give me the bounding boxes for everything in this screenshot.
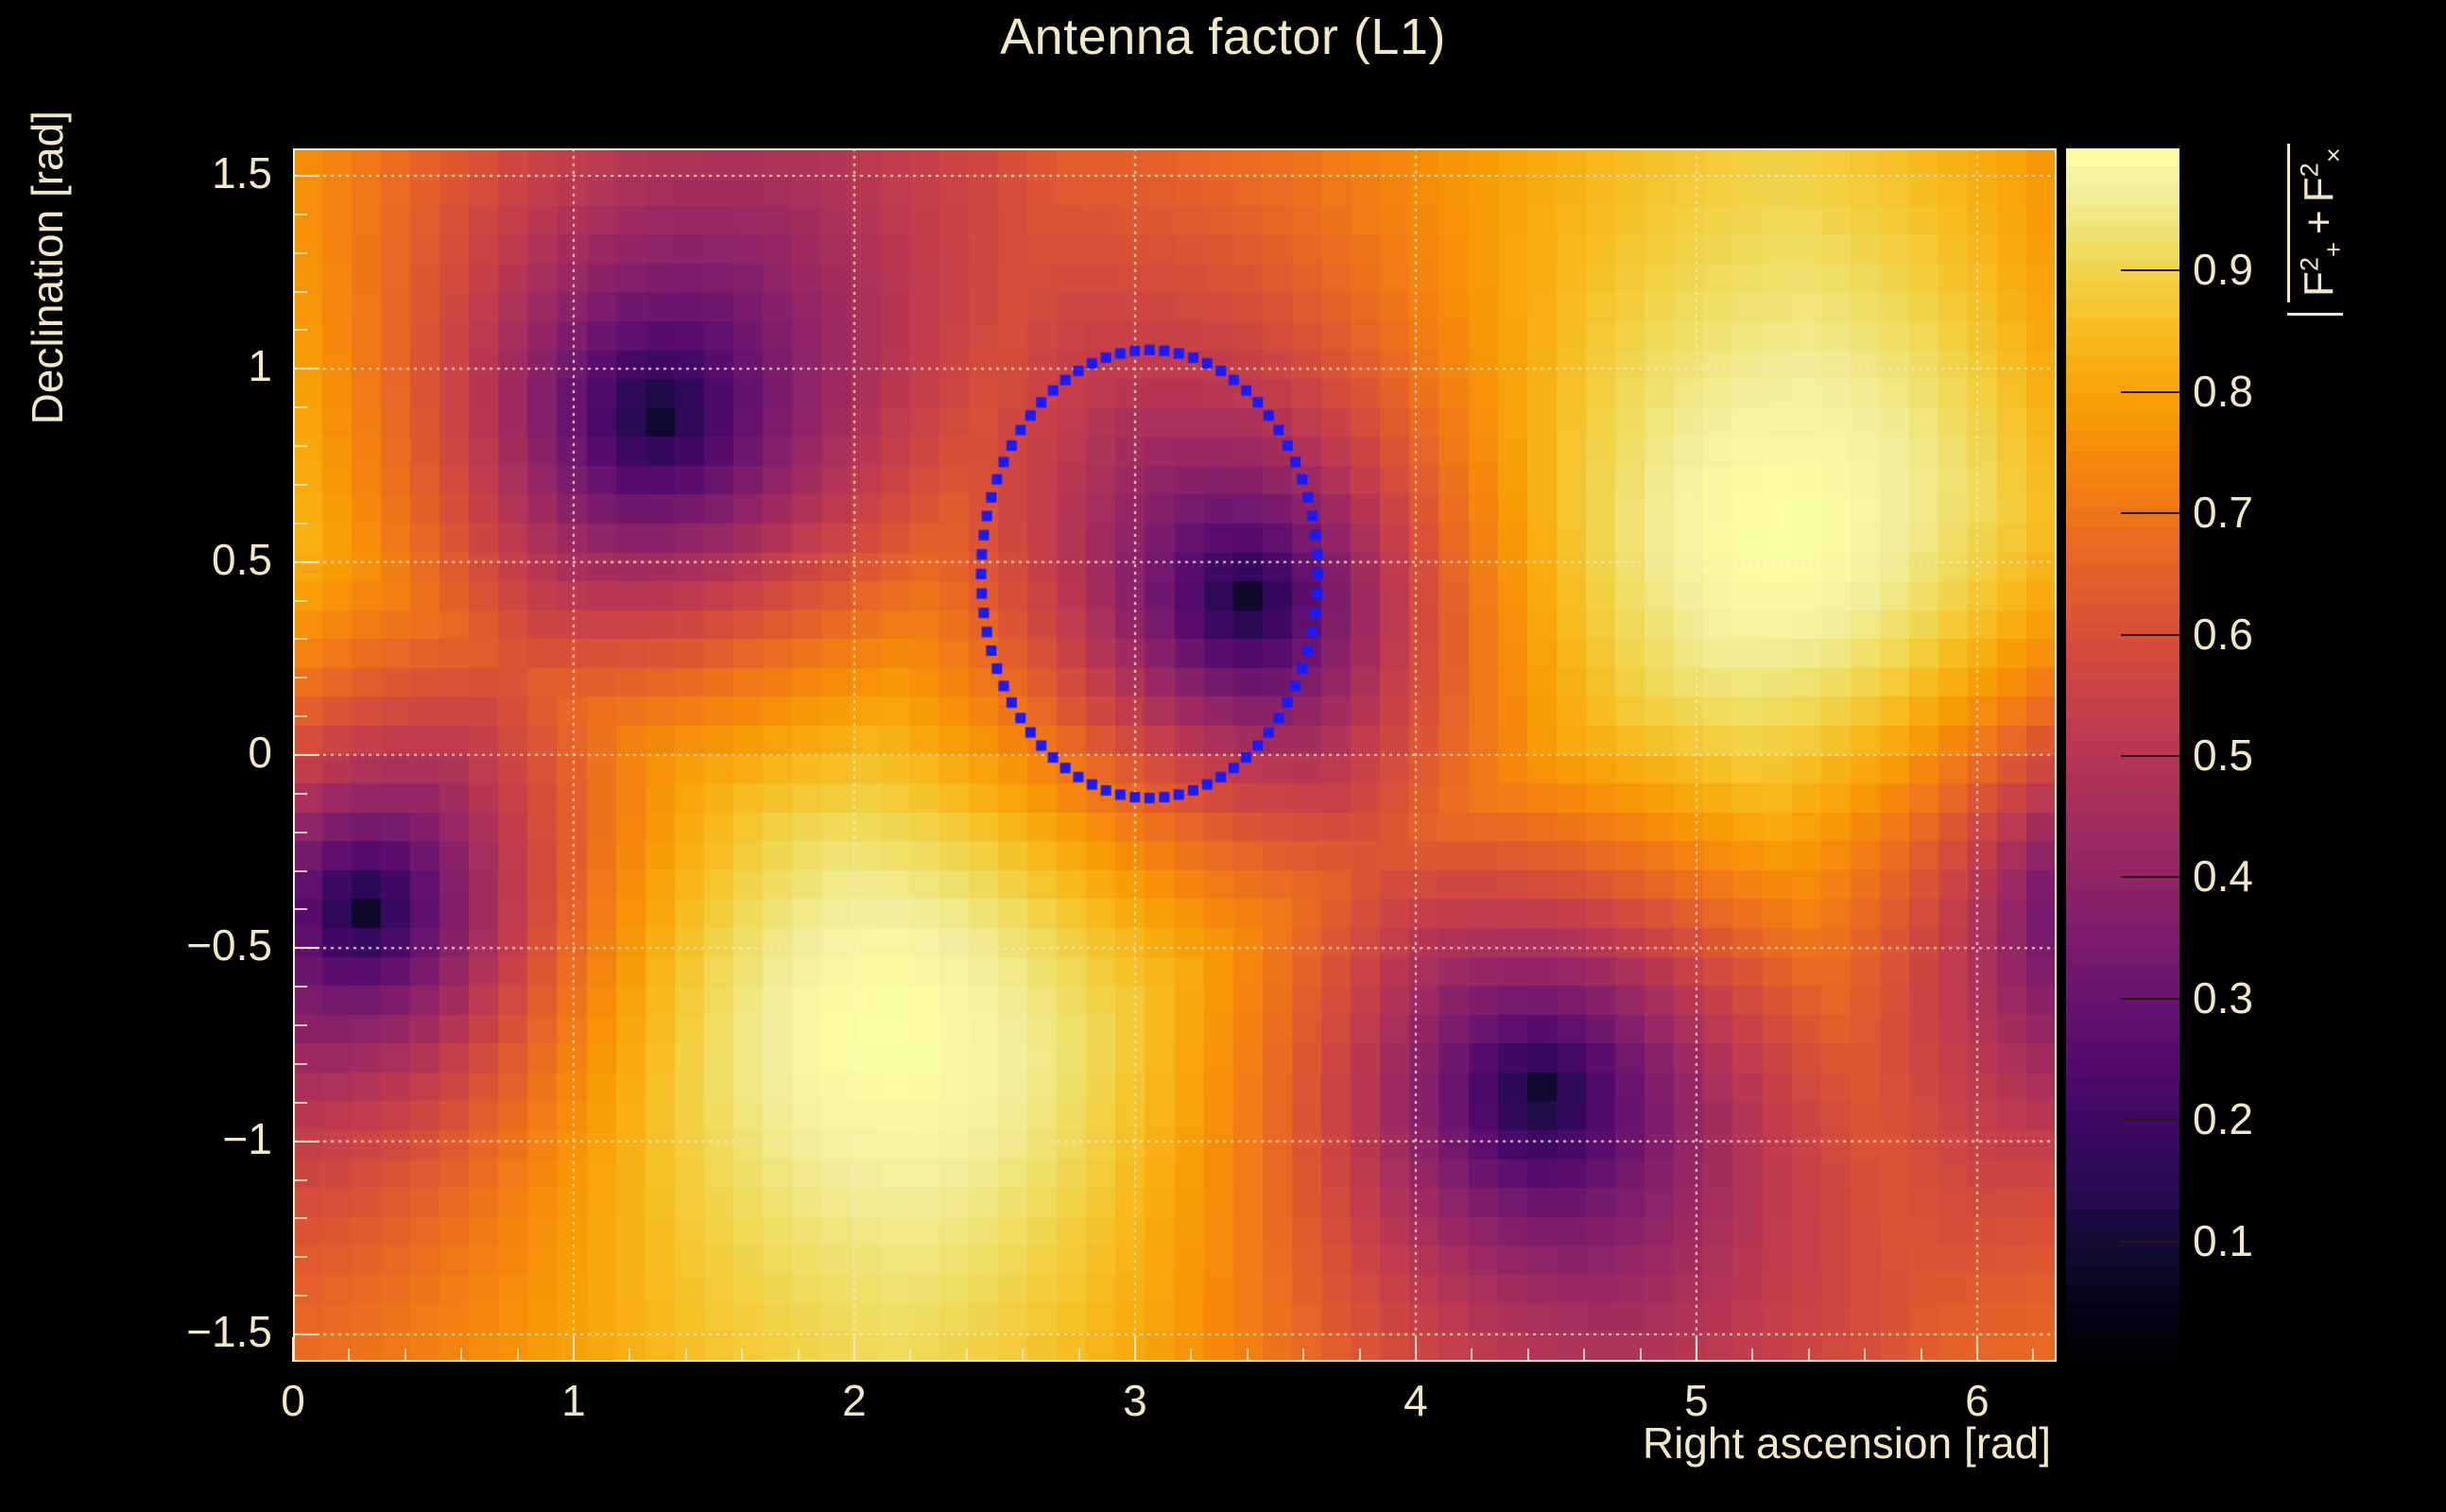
- grid-and-contour-overlay: [293, 148, 2057, 1362]
- y-minor-tickmark: [295, 291, 307, 293]
- colorbar-title: F2++F2×: [2249, 94, 2446, 340]
- y-minor-tickmark: [295, 175, 307, 177]
- page-title: Antenna factor (L1): [0, 8, 2446, 66]
- y-minor-tickmark: [295, 754, 307, 756]
- x-minor-tickmark: [685, 1349, 687, 1362]
- y-minor-tickmark: [295, 523, 307, 524]
- x-minor-tickmark: [2032, 1349, 2034, 1362]
- y-minor-tickmark: [295, 1295, 307, 1297]
- y-tick-label-5: −1: [93, 1113, 272, 1164]
- colorbar-tickmark: [2121, 998, 2179, 1000]
- y-minor-tickmark: [295, 793, 307, 795]
- colorbar-tickmark: [2121, 269, 2179, 271]
- plus-operator: +: [2296, 202, 2342, 242]
- x-minor-tickmark: [1359, 1349, 1361, 1362]
- colorbar-tick-label-2: 0.7: [2193, 487, 2253, 538]
- y-minor-tickmark: [295, 1141, 307, 1143]
- x-minor-tickmark: [798, 1349, 800, 1362]
- colorbar-tickmark: [2121, 1119, 2179, 1121]
- x-minor-tickmark: [1022, 1349, 1024, 1362]
- x-minor-tickmark: [1527, 1349, 1529, 1362]
- colorbar-tick-label-1: 0.8: [2193, 366, 2253, 417]
- f-plus-symbol: F2+: [2296, 242, 2342, 297]
- y-minor-tickmark: [295, 1333, 307, 1335]
- x-minor-tickmark: [1247, 1349, 1249, 1362]
- x-minor-tickmark: [517, 1349, 519, 1362]
- x-minor-tickmark: [1471, 1349, 1473, 1362]
- x-minor-tickmark: [1864, 1349, 1866, 1362]
- y-tick-label-2: 0.5: [93, 534, 272, 585]
- colorbar-tick-label-5: 0.4: [2193, 850, 2253, 902]
- y-minor-tickmark: [295, 947, 307, 949]
- x-minor-tickmark: [1976, 1349, 1978, 1362]
- colorbar-tick-label-6: 0.3: [2193, 972, 2253, 1023]
- x-minor-tickmark: [741, 1349, 743, 1362]
- x-minor-tickmark: [1415, 1349, 1417, 1362]
- x-minor-tickmark: [909, 1349, 911, 1362]
- colorbar-tickmark: [2121, 876, 2179, 878]
- y-minor-tickmark: [295, 870, 307, 872]
- x-minor-tickmark: [1751, 1349, 1753, 1362]
- colorbar-tickmark: [2121, 512, 2179, 514]
- x-minor-tickmark: [1302, 1349, 1304, 1362]
- colorbar-title-expression: F2++F2×: [2287, 144, 2346, 302]
- x-minor-tickmark: [573, 1349, 575, 1362]
- y-minor-tickmark: [295, 561, 307, 563]
- x-minor-tickmark: [966, 1349, 968, 1362]
- colorbar-tick-label-0: 0.9: [2193, 244, 2253, 295]
- y-minor-tickmark: [295, 406, 307, 408]
- x-tickmark: [292, 1337, 294, 1362]
- colorbar-tickmark: [2121, 1241, 2179, 1243]
- y-minor-tickmark: [295, 832, 307, 833]
- y-minor-tickmark: [295, 1179, 307, 1181]
- y-tick-label-1: 1: [93, 340, 272, 391]
- x-minor-tickmark: [853, 1349, 855, 1362]
- colorbar-tickmark: [2121, 755, 2179, 757]
- y-axis-title: Declination [rad]: [22, 111, 73, 507]
- plot-canvas: Antenna factor (L1) 0123456 1.510.50−0.5…: [0, 0, 2446, 1512]
- y-minor-tickmark: [295, 252, 307, 254]
- y-minor-tickmark: [295, 908, 307, 910]
- y-minor-tickmark: [295, 600, 307, 602]
- x-minor-tickmark: [1808, 1349, 1810, 1362]
- y-minor-tickmark: [295, 1063, 307, 1065]
- y-minor-tickmark: [295, 1217, 307, 1219]
- y-minor-tickmark: [295, 1256, 307, 1258]
- y-minor-tickmark: [295, 986, 307, 988]
- y-minor-tickmark: [295, 484, 307, 486]
- y-minor-tickmark: [295, 445, 307, 447]
- y-minor-tickmark: [295, 1102, 307, 1104]
- y-tick-label-3: 0: [93, 727, 272, 778]
- y-tick-label-0: 1.5: [93, 147, 272, 198]
- x-minor-tickmark: [1640, 1349, 1642, 1362]
- y-tick-label-4: −0.5: [93, 919, 272, 971]
- colorbar-tick-label-7: 0.2: [2193, 1093, 2253, 1144]
- y-minor-tickmark: [295, 368, 307, 369]
- f-cross-symbol: F2×: [2296, 147, 2342, 202]
- x-minor-tickmark: [1134, 1349, 1136, 1362]
- x-minor-tickmark: [460, 1349, 462, 1362]
- heatmap-frame: [293, 148, 2057, 1362]
- y-minor-tickmark: [295, 677, 307, 679]
- colorbar-tick-label-4: 0.5: [2193, 730, 2253, 781]
- colorbar-tick-label-3: 0.6: [2193, 609, 2253, 660]
- y-minor-tickmark: [295, 638, 307, 640]
- y-tick-label-6: −1.5: [93, 1306, 272, 1357]
- y-minor-tickmark: [295, 1024, 307, 1026]
- x-minor-tickmark: [1583, 1349, 1585, 1362]
- x-minor-tickmark: [1190, 1349, 1192, 1362]
- y-minor-tickmark: [295, 329, 307, 331]
- x-minor-tickmark: [1921, 1349, 1922, 1362]
- colorbar-tickmark: [2121, 634, 2179, 636]
- x-minor-tickmark: [348, 1349, 350, 1362]
- y-minor-tickmark: [295, 715, 307, 717]
- x-axis-title: Right ascension [rad]: [0, 1417, 2057, 1469]
- x-minor-tickmark: [1078, 1349, 1080, 1362]
- colorbar-tick-label-8: 0.1: [2193, 1215, 2253, 1266]
- colorbar-tickmark: [2121, 391, 2179, 393]
- x-minor-tickmark: [629, 1349, 630, 1362]
- x-minor-tickmark: [1696, 1349, 1697, 1362]
- y-minor-tickmark: [295, 214, 307, 215]
- x-minor-tickmark: [405, 1349, 406, 1362]
